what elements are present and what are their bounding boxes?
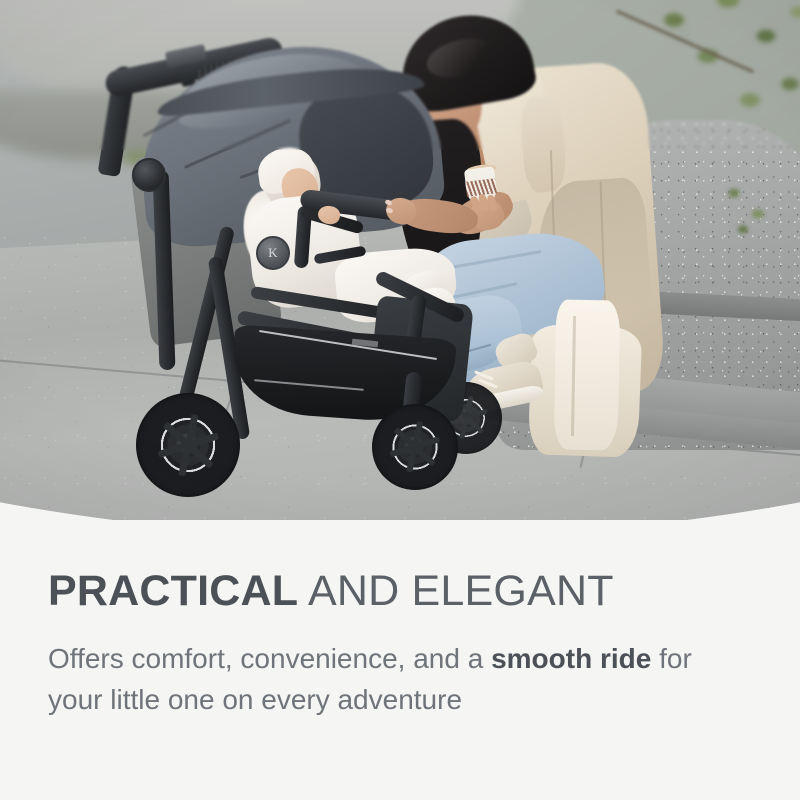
subcopy-bold-smooth: smooth <box>491 643 592 674</box>
headline-light-part: AND ELEGANT <box>298 567 613 615</box>
headline-bold-part: PRACTICAL <box>48 567 298 615</box>
stroller-brand-logo: K <box>256 236 290 270</box>
hero-image: K <box>0 0 800 520</box>
subcopy-part-1: Offers comfort, convenience, and a <box>48 643 491 674</box>
lifestyle-photo: K <box>0 0 800 520</box>
page-title: PRACTICAL AND ELEGANT <box>48 568 752 614</box>
trench-coat-hem-fold <box>554 299 621 450</box>
subheadline: Offers comfort, convenience, and a smoot… <box>48 639 728 720</box>
subcopy-space <box>592 643 600 674</box>
stroller-hinge <box>132 158 166 192</box>
subcopy-bold-ride: ride <box>600 643 651 674</box>
foliage-sprig <box>716 172 776 242</box>
stroller-wheel-rear <box>136 393 240 497</box>
text-block: PRACTICAL AND ELEGANT Offers comfort, co… <box>0 520 800 800</box>
stroller-wheel-front <box>372 404 458 490</box>
promo-card: K PRACTICAL AND ELEGANT Offers comfort, … <box>0 0 800 800</box>
